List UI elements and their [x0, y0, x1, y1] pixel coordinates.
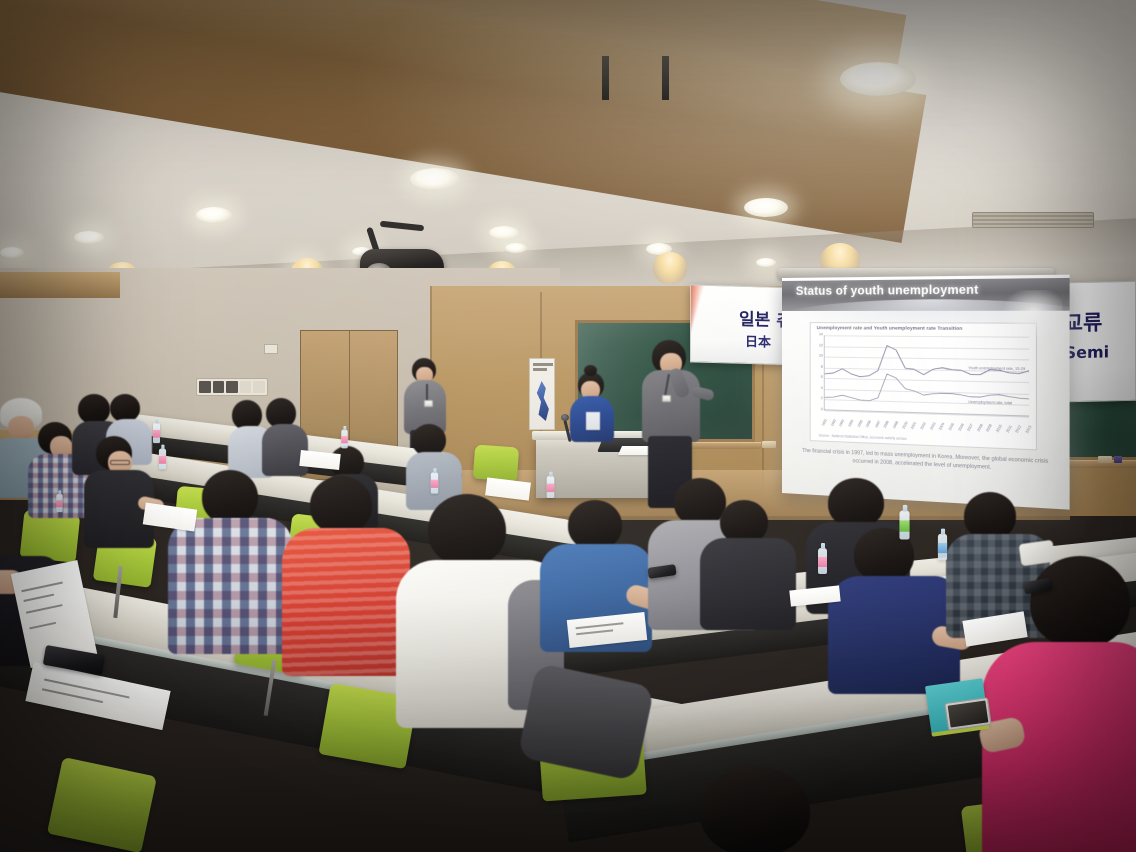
chart-x-tick-label: 2011 [1006, 425, 1013, 434]
bottle-label [818, 557, 827, 567]
poster-text-line [533, 363, 553, 366]
microphone-head [561, 414, 569, 421]
switch[interactable] [199, 381, 211, 393]
screen-surface: Status of youth unemployment Unemploymen… [782, 275, 1070, 510]
chart-x-tick-label: 2002 [920, 421, 927, 430]
chart-source-note: Source : National Statistical Office, ec… [819, 433, 907, 441]
bottle-label [938, 543, 947, 553]
chart-y-tick-label: 0 [821, 408, 823, 412]
chart-x-tick-label: 1997 [875, 420, 882, 429]
tablet-screen [948, 700, 989, 727]
bottle-label [56, 500, 62, 507]
ceiling-light [756, 258, 776, 267]
chart-x-tick-label: 2013 [1026, 425, 1034, 434]
water-bottle[interactable] [818, 548, 827, 574]
ceiling [0, 0, 1136, 300]
attendee-head [428, 494, 506, 566]
lecture-hall-photo: 일본 츄오 日本 로그램 학생교류 交流 Semi 18호 Status of … [0, 0, 1136, 852]
chart-x-tick-label: 1993 [839, 419, 846, 427]
water-bottle[interactable] [938, 534, 947, 561]
water-bottle[interactable] [56, 494, 62, 512]
moderator-hair-bun [584, 365, 597, 376]
water-bottle[interactable] [431, 472, 438, 493]
name-badge [662, 395, 671, 402]
chart-y-tick-label: 14 [819, 333, 823, 336]
chart-title: Unemployment rate and Youth unemployment… [817, 325, 1032, 331]
chart-x-tick-label: 1999 [893, 421, 900, 430]
attendee-head [310, 476, 372, 534]
moderator-papers [586, 412, 600, 430]
chart-x-tick-label: 1998 [884, 420, 891, 429]
wall-trim [0, 272, 120, 298]
attendee-head [964, 492, 1016, 540]
attendee-head [1030, 556, 1130, 648]
attendee-torso [282, 528, 410, 676]
lectern-leg [602, 56, 609, 100]
chalkboard-eraser [762, 441, 776, 448]
eyeglasses [110, 460, 130, 465]
chart-y-tick-label: 12 [819, 344, 823, 347]
name-badge [424, 400, 433, 407]
handout-text-line [44, 678, 129, 698]
bottle-label [341, 436, 347, 443]
attendee-head [828, 478, 884, 528]
ceiling-light [74, 231, 104, 244]
chart-x-tick-label: 1996 [866, 420, 873, 428]
wall-poster [529, 358, 555, 430]
ceiling-light [505, 243, 527, 253]
ceiling-light [744, 198, 788, 217]
handout-text-line [575, 622, 623, 629]
attendee-face [8, 416, 34, 440]
chalkboard-eraser [1114, 456, 1122, 463]
door-sign [264, 344, 278, 354]
chart-x-tick-label: 2005 [948, 422, 955, 431]
water-bottle[interactable] [341, 430, 347, 449]
water-bottle[interactable] [547, 476, 555, 498]
water-bottle[interactable] [899, 510, 909, 539]
banner-left-japanese-text: 日本 [745, 331, 771, 351]
switch[interactable] [226, 381, 238, 393]
chart-x-tick-label: 2004 [939, 422, 946, 431]
switch[interactable] [253, 381, 265, 393]
tissue-in-hand [1019, 540, 1056, 567]
attendee-torso [168, 518, 292, 654]
water-bottle[interactable] [159, 449, 166, 470]
slide-chart: Unemployment rate and Youth unemployment… [810, 322, 1037, 450]
chair[interactable] [47, 757, 157, 852]
slide-caption: The financial crisis in 1997, led to mas… [798, 447, 1053, 476]
attendee-head [78, 394, 110, 424]
chair[interactable] [473, 445, 519, 482]
light-switch-panel[interactable] [196, 378, 268, 396]
switch[interactable] [213, 381, 225, 393]
water-bottle[interactable] [153, 423, 160, 443]
chart-x-tick-label: 1992 [830, 418, 837, 426]
switch[interactable] [240, 381, 252, 393]
handout-text-line [576, 629, 613, 634]
ceiling-light [196, 207, 232, 223]
bottle-label [159, 456, 166, 464]
chart-y-tick-label: 8 [821, 365, 823, 368]
chart-x-tick-label: 2006 [958, 423, 965, 432]
ceiling-light [840, 62, 916, 96]
poster-text-line [533, 368, 547, 371]
handout-text-line [26, 604, 63, 613]
chart-y-tick-label: 6 [821, 376, 823, 379]
ceiling-light [0, 247, 24, 258]
wall-wash-lamp [653, 252, 687, 284]
chart-x-tick-label: 1991 [822, 418, 829, 426]
ceiling-air-vent [972, 212, 1094, 228]
chart-x-tick-label: 1995 [857, 419, 864, 427]
chart-y-tick-label: 4 [821, 387, 823, 390]
lectern-leg [662, 56, 669, 100]
ceiling-light [410, 168, 460, 190]
chart-x-tick-label: 2012 [1016, 425, 1023, 434]
attendee-head [568, 500, 622, 550]
attendee-head [674, 478, 726, 526]
bottle-label [431, 480, 438, 488]
attendee-head [700, 766, 810, 852]
chart-y-tick-label: 10 [819, 355, 823, 359]
chart-x-tick-label: 2008 [977, 423, 984, 432]
chalkboard-eraser [1098, 456, 1112, 463]
bottle-label [899, 521, 909, 532]
projection-screen: Status of youth unemployment Unemploymen… [782, 278, 1050, 503]
handout-text-line [23, 594, 54, 602]
chart-x-tick-label: 2010 [996, 424, 1003, 433]
attendee-torso [700, 538, 796, 630]
chart-x-tick-label: 1994 [848, 419, 855, 427]
ceiling-light [489, 226, 519, 239]
bottle-label [547, 484, 555, 493]
chart-y-tick-label: 2 [821, 397, 823, 401]
attendee-head [110, 394, 140, 422]
chart-x-tick-label: 2009 [987, 424, 994, 433]
handout-text-line [29, 622, 56, 629]
chart-x-tick-label: 2001 [911, 421, 918, 430]
chart-x-tick-label: 2007 [967, 423, 974, 432]
chart-x-tick-label: 2003 [930, 422, 937, 431]
attendee-head [202, 470, 258, 524]
poster-figure [536, 381, 550, 421]
handout-text-line [21, 582, 63, 592]
slide-title: Status of youth unemployment [796, 284, 979, 298]
chart-x-tick-label: 2000 [902, 421, 909, 430]
bottle-label [153, 430, 160, 438]
